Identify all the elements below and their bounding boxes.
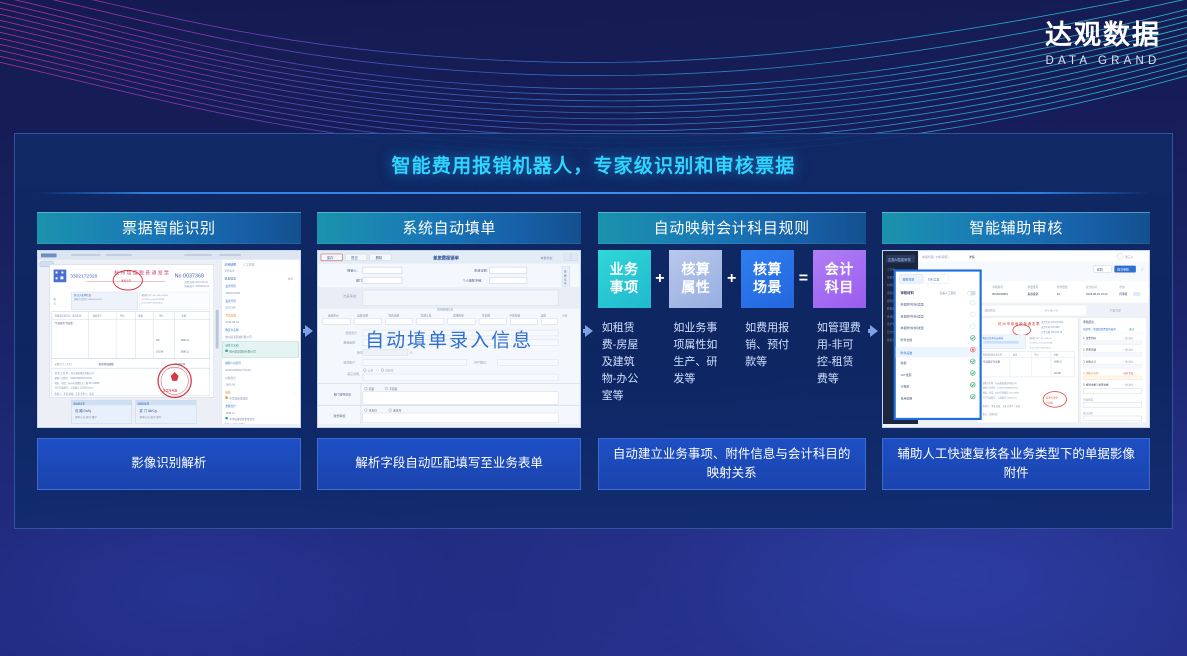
- brand-logo-en: DATA GRAND: [1045, 55, 1161, 67]
- brand-logo-cn: 达观数据: [1045, 20, 1161, 51]
- svg-text:1. 发票代码: 1. 发票代码: [1084, 335, 1097, 339]
- svg-text:附件合规: 附件合规: [901, 336, 913, 341]
- rule-item-3[interactable]: 核算场景 如费用报销、预付款等: [741, 250, 794, 371]
- svg-text:发票专用: 发票专用: [121, 278, 132, 282]
- svg-text:出差地点: 出差地点: [328, 313, 339, 317]
- svg-text:›: ›: [294, 313, 295, 317]
- svg-text:小计: 小计: [562, 313, 568, 317]
- svg-text:3<*4/21>-<>8<61*/0238: 3<*4/21>-<>8<61*/0238: [1030, 341, 1054, 344]
- svg-text:删除: 删除: [376, 255, 383, 260]
- svg-text:单据附件材料类型: 单据附件材料类型: [901, 325, 924, 330]
- svg-text:单据编号: 单据编号: [993, 285, 1004, 289]
- brand-logo: 达观数据 DATA GRAND: [1045, 20, 1161, 67]
- svg-text:下载 打印: 下载 打印: [1110, 308, 1122, 312]
- svg-text:公务: 公务: [368, 368, 374, 372]
- svg-text:1698.11: 1698.11: [1054, 361, 1063, 363]
- rule-desc-3: 如费用报销、预付款等: [741, 320, 794, 371]
- svg-text:VAT发票: VAT发票: [901, 371, 912, 376]
- step-2-caption: 解析字段自动匹配填写至业务表单: [317, 438, 581, 490]
- svg-text:›: ›: [294, 361, 295, 365]
- svg-text:单据状态：: 单据状态：: [541, 254, 556, 259]
- svg-text:不同意: 不同意: [390, 387, 398, 391]
- svg-text:财务审核: 财务审核: [334, 412, 346, 417]
- svg-text:购买方名称: 购买方名称: [225, 328, 238, 332]
- svg-text:收据: 收据: [901, 360, 907, 365]
- svg-text:›: ›: [294, 390, 295, 394]
- rule-item-4[interactable]: 会计科目 如管理费用-非可控-租赁费等: [813, 250, 866, 388]
- svg-text:91330100MA27XXXX: 91330100MA27XXXX: [225, 368, 251, 372]
- svg-text:交通工具: 交通工具: [421, 313, 432, 317]
- svg-text:张三 ▾: 张三 ▾: [1126, 254, 1134, 258]
- svg-text:附件数量: 附件数量: [1057, 285, 1068, 289]
- rule-label-4-line1: 会计科目: [825, 261, 854, 296]
- svg-text:›: ›: [294, 284, 295, 288]
- svg-text:›: ›: [294, 404, 295, 408]
- svg-text:收款人 复核 开票人: 收款人 复核 开票人: [224, 421, 246, 424]
- operator-plus-1: +: [651, 250, 670, 308]
- svg-text:6%: 6%: [156, 339, 159, 341]
- svg-text:›: ›: [294, 298, 295, 302]
- svg-text:规则校验: 规则校验: [903, 276, 915, 281]
- svg-text:其他: 其他: [541, 313, 547, 317]
- svg-text:3. 价税合计: 3. 价税合计: [1084, 359, 1097, 363]
- svg-text:未支付: 未支付: [394, 408, 402, 412]
- svg-text:4. 销售方名称: 4. 销售方名称: [1084, 371, 1100, 375]
- svg-text:杭州某某酒店有限公司: 杭州某某酒店有限公司: [229, 349, 256, 353]
- svg-text:/1*2<>4-9*<7/02>413<: /1*2<>4-9*<7/02>413<: [141, 301, 163, 304]
- rule-box-accounting-attribute[interactable]: 核算属性: [669, 250, 722, 308]
- arrow-right-icon: [582, 322, 598, 340]
- svg-text:›: ›: [294, 328, 295, 332]
- svg-text:1698.11: 1698.11: [181, 339, 190, 341]
- rule-box-business-item[interactable]: 业务事项: [598, 250, 651, 308]
- svg-text:提交时间: 提交时间: [1086, 285, 1097, 289]
- svg-text:通过: 通过: [1129, 327, 1135, 331]
- svg-text:单据管理 / 材料审核 /: 单据管理 / 材料审核 /: [922, 253, 949, 258]
- svg-text:发票类型: 发票类型: [224, 268, 235, 272]
- svg-text:开票日期: 开票日期: [225, 313, 236, 317]
- svg-text:5. 报销金额与发票金额: 5. 报销金额与发票金额: [1084, 382, 1110, 386]
- svg-text:详情: 详情: [969, 253, 975, 258]
- rule-label-1-line1: 业务事项: [610, 261, 639, 296]
- svg-text:中等及新增项目: 中等及新增项目: [229, 396, 248, 400]
- svg-text:申请日期：: 申请日期：: [475, 267, 491, 272]
- process-step-2: 系统自动填单 保存 提交 删除 差旅费报销单 单据状态：: [317, 212, 581, 490]
- svg-text:销售方名称: 销售方名称: [225, 343, 238, 347]
- svg-text:待审核: 待审核: [1120, 291, 1128, 295]
- invoice-ocr-screenshot[interactable]: 3302172320 杭 州 增 值 税 普 通 发 票 No 0037369 …: [37, 250, 301, 428]
- svg-text:开户银行：: 开户银行：: [475, 359, 490, 364]
- rule-label-3-line1: 核算场景: [753, 261, 782, 296]
- step-4-header: 智能辅助审核: [882, 212, 1150, 244]
- svg-text:2. 开票日期: 2. 开票日期: [1084, 347, 1097, 351]
- svg-text:备注说明: 备注说明: [1084, 411, 1095, 415]
- svg-text:单据附件材料类型: 单据附件材料类型: [901, 301, 924, 306]
- svg-text:壹仟捌佰圆整: 壹仟捌佰圆整: [99, 362, 115, 366]
- svg-text:2019-08-16: 2019-08-16: [225, 320, 239, 324]
- svg-text:已垫付: 已垫付: [386, 368, 394, 372]
- svg-text:住宿费: 住宿费: [482, 313, 490, 317]
- svg-text:差旅报销: 差旅报销: [1028, 291, 1039, 295]
- svg-text:2023-08-15 10:24: 2023-08-15 10:24: [1086, 291, 1108, 295]
- svg-text:状态: 状态: [1120, 285, 1126, 289]
- svg-text:价税合计: 价税合计: [225, 375, 236, 379]
- svg-text:⤢: ⤢: [1141, 267, 1144, 271]
- arrow-right-icon: [867, 322, 883, 340]
- process-step-4: 智能辅助审核 达观AI智能审核 工作台 单据管理 材料审核 审核记录 规则配置 …: [882, 212, 1150, 490]
- svg-text:发票代码: 发票代码: [225, 284, 236, 288]
- step-3-caption: 自动建立业务事项、附件信息与会计科目的映射关系: [598, 438, 866, 490]
- svg-text:杭州某某科技有限公司: 杭州某某科技有限公司: [225, 334, 252, 338]
- rule-item-2[interactable]: 核算属性 如业务事项属性如生产、研发等: [669, 250, 722, 388]
- svg-text:个人借款冲销：: 个人借款冲销：: [463, 277, 485, 282]
- rule-desc-2: 如业务事项属性如生产、研发等: [669, 320, 722, 388]
- svg-text:审核结论: 审核结论: [1084, 320, 1095, 324]
- gap-1-2: [301, 212, 318, 490]
- svg-text:课中小伙-旅行-餐厅: 课中小伙-旅行-餐厅: [75, 414, 97, 418]
- svg-text:返回: 返回: [1097, 266, 1103, 271]
- svg-text:出差事由：: 出差事由：: [344, 292, 360, 297]
- svg-text:税额: 税额: [225, 390, 231, 394]
- svg-text:同意: 同意: [369, 387, 375, 391]
- rule-box-accounting-subject[interactable]: 会计科目: [813, 250, 866, 308]
- svg-text:行程单: 行程单: [901, 383, 910, 388]
- svg-text:›: ›: [294, 375, 295, 379]
- svg-text:纳税人识别号: 纳税人识别号: [225, 361, 241, 365]
- svg-text:其它说明：: 其它说明：: [348, 370, 363, 375]
- gap-2-3: [581, 212, 598, 490]
- svg-text:杭 州 增 值 税 普 通 发 票: 杭 州 增 值 税 普 通 发 票: [114, 269, 169, 276]
- svg-text:部门领导意见: 部门领导意见: [334, 391, 352, 396]
- rule-item-1[interactable]: 业务事项 如租赁费-房屋及建筑物-办公室等: [598, 250, 651, 405]
- svg-text:发票号码: 发票号码: [225, 298, 236, 302]
- svg-text:单据类型: 单据类型: [1028, 285, 1039, 289]
- svg-text:BX20230815: BX20230815: [993, 291, 1009, 295]
- svg-text:金额合计: 金额合计: [225, 404, 236, 408]
- step-1-caption: 影像识别解析: [37, 438, 301, 490]
- svg-text:3<*4/21>-<>8<61*/0238: 3<*4/21>-<>8<61*/0238: [141, 297, 165, 300]
- svg-text:差旅费报销单: 差旅费报销单: [434, 254, 460, 261]
- svg-text:校验项：增值税发票真伪校验: 校验项：增值税发票真伪校验: [1084, 327, 1117, 331]
- svg-text:到达日期: 到达日期: [389, 313, 400, 317]
- rule-label-2-line1: 核算属性: [681, 261, 710, 296]
- gap-3-4: [866, 212, 883, 490]
- decorative-wave-lines: [0, 0, 1187, 150]
- svg-text:101.89: 101.89: [1054, 373, 1062, 375]
- svg-text:材料盖章: 材料盖章: [928, 276, 940, 281]
- svg-text:收起: 收起: [288, 276, 294, 280]
- svg-text:1698.11: 1698.11: [181, 351, 190, 353]
- svg-text:杭 州 市 增 值 税 普 通 发 票: 杭 州 市 增 值 税 普 通 发 票: [999, 321, 1041, 326]
- svg-text:课中小伙-旅行-餐厅: 课中小伙-旅行-餐厅: [140, 414, 162, 418]
- svg-text:12: 12: [1057, 291, 1061, 295]
- auto-form-fill-screenshot[interactable]: 保存 提交 删除 差旅费报销单 单据状态： 报销人： 申请日期： 部门： 个人借…: [317, 250, 581, 428]
- svg-text:审核材料: 审核材料: [901, 289, 915, 294]
- svg-text:保存: 保存: [327, 255, 334, 260]
- svg-text:伙食补助: 伙食补助: [510, 313, 521, 317]
- svg-text:交通费用: 交通费用: [453, 313, 464, 317]
- svg-text:仅看人工复核: 仅看人工复核: [940, 290, 957, 294]
- svg-text:101.89: 101.89: [156, 351, 164, 353]
- content-board: 智能费用报销机器人，专家级识别和审核票据 票据智能识别: [14, 133, 1173, 529]
- svg-text:机器编号 4999200012: 机器编号 4999200012: [184, 284, 209, 288]
- svg-text:提交审核: 提交审核: [1118, 266, 1130, 271]
- svg-text:宴 门 8k/Cg: 宴 门 8k/Cg: [140, 408, 157, 413]
- board-title: 智能费用报销机器人，专家级识别和审核票据: [15, 134, 1172, 178]
- svg-text:⊖ | ⊕ | ⟳: ⊖ | ⊕ | ⟳: [1045, 308, 1058, 312]
- rule-box-accounting-scene[interactable]: 核算场景: [741, 250, 794, 308]
- svg-text:基本信息: 基本信息: [224, 275, 236, 280]
- svg-text:费用明细信息: 费用明细信息: [437, 307, 454, 311]
- svg-text:报销人：: 报销人：: [348, 267, 360, 272]
- accounting-rule-formula: 业务事项 如租赁费-房屋及建筑物-办公室等 + 核算属性 如业务事项属性如生产、…: [598, 250, 866, 428]
- svg-text:附件盖章: 附件盖章: [901, 349, 913, 354]
- step-3-header: 自动映射会计科目规则: [598, 212, 866, 244]
- audit-review-screenshot[interactable]: 达观AI智能审核 工作台 单据管理 材料审核 审核记录 规则配置 数据统计 系统…: [882, 250, 1150, 428]
- svg-text:0037369: 0037369: [225, 305, 236, 309]
- svg-text:No 0037369: No 0037369: [175, 273, 204, 279]
- svg-text:材料预览: 材料预览: [985, 308, 996, 312]
- svg-text:1698.11: 1698.11: [225, 411, 235, 415]
- process-step-1: 票据智能识别: [37, 212, 301, 490]
- step-2-overlay-label: 自动填单录入信息: [318, 325, 580, 352]
- step-4-caption: 辅助人工快速复核各业务类型下的单据影像附件: [882, 438, 1150, 490]
- rule-desc-4: 如管理费用-非可控-租赁费等: [813, 320, 866, 388]
- svg-text:达观AI智能审核: 达观AI智能审核: [888, 256, 912, 261]
- svg-text:人工校验: 人工校验: [243, 261, 255, 266]
- svg-text:包 厢 Dx/kj: 包 厢 Dx/kj: [75, 408, 91, 413]
- svg-text:提交: 提交: [352, 255, 359, 260]
- process-step-3: 自动映射会计科目规则 业务事项 如租赁费-房屋及建筑物-办公室等 + 核算属性 …: [598, 212, 866, 490]
- svg-text:单据附件材料类型: 单据附件材料类型: [901, 313, 924, 318]
- step-1-header: 票据智能识别: [37, 212, 301, 244]
- svg-text:3302172320: 3302172320: [70, 273, 97, 279]
- rule-desc-1: 如租赁费-房屋及建筑物-办公室等: [598, 320, 651, 405]
- svg-text:中等结果项目新增项目: 中等结果项目新增项目: [229, 416, 255, 420]
- process-columns: 票据智能识别: [15, 194, 1172, 490]
- svg-text:3302172320: 3302172320: [225, 290, 240, 294]
- svg-text:开票日期 2019-08-16: 开票日期 2019-08-16: [184, 280, 208, 284]
- operator-equals: =: [794, 250, 813, 308]
- svg-text:费用说明: 费用说明: [901, 395, 913, 400]
- arrow-right-icon: [302, 322, 318, 340]
- svg-text:发票专用章: 发票专用章: [163, 387, 178, 392]
- svg-text:收款账户：: 收款账户：: [344, 359, 359, 364]
- svg-text:审核意见: 审核意见: [1084, 397, 1095, 401]
- operator-plus-2: +: [722, 250, 741, 308]
- svg-text:出发日期: 出发日期: [357, 313, 368, 317]
- svg-text:/1*2<>4-9*<7/02>413<: /1*2<>4-9*<7/02>413<: [1030, 346, 1052, 349]
- svg-text:已支付: 已支付: [369, 408, 377, 412]
- svg-text:1800.00: 1800.00: [225, 382, 235, 386]
- svg-text:识别结果: 识别结果: [224, 261, 236, 266]
- step-2-header: 系统自动填单: [317, 212, 581, 244]
